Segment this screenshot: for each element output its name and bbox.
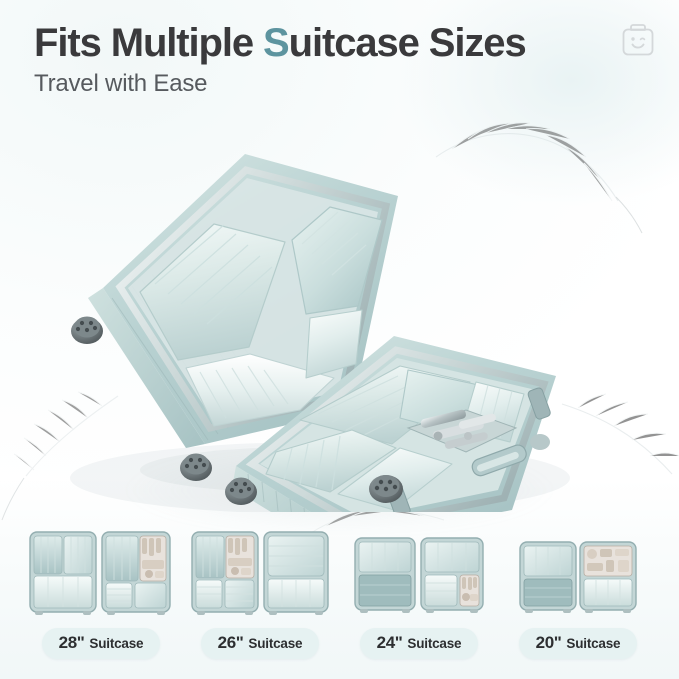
page-title: Fits Multiple Suitcase Sizes (34, 22, 634, 64)
size-option-20[interactable]: 20" Suitcase (499, 524, 657, 674)
size-label-pill: 26" Suitcase (201, 628, 320, 659)
spinner-wheel (71, 317, 103, 345)
size-number: 24" (377, 633, 403, 653)
size-number: 28" (59, 633, 85, 653)
size-number: 26" (218, 633, 244, 653)
title-accent-letter: S (263, 21, 289, 65)
size-option-28[interactable]: 28" Suitcase (22, 524, 180, 674)
size-option-26[interactable]: 26" Suitcase (181, 524, 339, 674)
suitcase-24-thumbnail (343, 524, 495, 622)
size-label-pill: 28" Suitcase (42, 628, 161, 659)
size-label-pill: 20" Suitcase (519, 628, 638, 659)
size-word: Suitcase (566, 636, 620, 651)
size-word: Suitcase (89, 636, 143, 651)
header: Fits Multiple Suitcase Sizes Travel with… (34, 22, 634, 98)
open-suitcase-illustration (0, 92, 679, 512)
suitcase-20-thumbnail (502, 524, 654, 622)
size-word: Suitcase (248, 636, 302, 651)
suitcase-size-list: 28" Suitcase (0, 524, 679, 674)
size-option-24[interactable]: 24" Suitcase (340, 524, 498, 674)
title-suffix: uitcase Sizes (289, 21, 526, 65)
hero-product-image (0, 92, 679, 512)
size-word: Suitcase (407, 636, 461, 651)
suitcase-28-thumbnail (25, 524, 177, 622)
spinner-wheel (369, 475, 403, 503)
title-prefix: Fits Multiple (34, 21, 263, 65)
suitcase-foot (530, 434, 550, 450)
size-label-pill: 24" Suitcase (360, 628, 479, 659)
suitcase-26-thumbnail (184, 524, 336, 622)
size-number: 20" (536, 633, 562, 653)
